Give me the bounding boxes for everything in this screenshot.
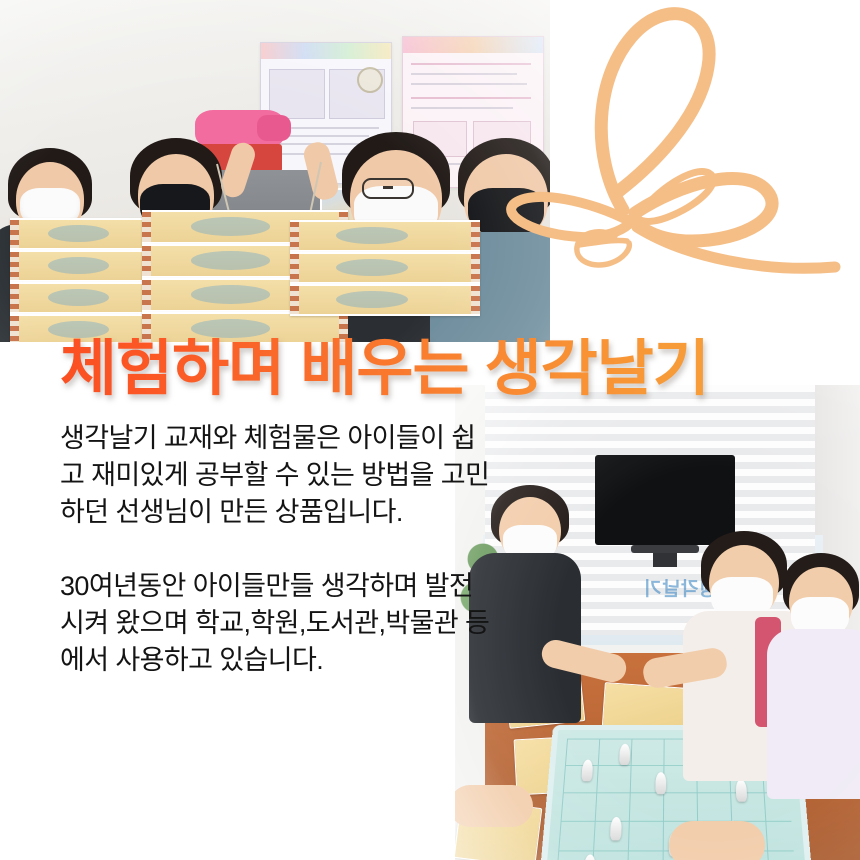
desktop-monitor xyxy=(595,455,735,545)
child-hand-foreground xyxy=(455,785,533,827)
body-copy: 생각날기 교재와 체험물은 아이들이 쉽 고 재미있게 공부할 수 있는 방법을… xyxy=(60,420,580,679)
map-strip xyxy=(290,284,480,316)
classroom-children-photo xyxy=(0,0,550,342)
poster-root: 생각날기 xyxy=(0,0,860,860)
paragraph-2: 30여년동안 아이들만들 생각하며 발전 시켜 왔으며 학교,학원,도서관,박물… xyxy=(60,568,580,679)
monitor-stand xyxy=(631,545,699,553)
paragraph-1: 생각날기 교재와 체험물은 아이들이 쉽 고 재미있게 공부할 수 있는 방법을… xyxy=(60,420,580,531)
map-strip xyxy=(290,252,480,284)
eyeglasses-icon xyxy=(362,178,414,199)
page-title: 체험하며 배우는 생각날기 xyxy=(60,338,860,400)
map-strip xyxy=(290,220,480,252)
child-hand-foreground xyxy=(669,821,765,860)
